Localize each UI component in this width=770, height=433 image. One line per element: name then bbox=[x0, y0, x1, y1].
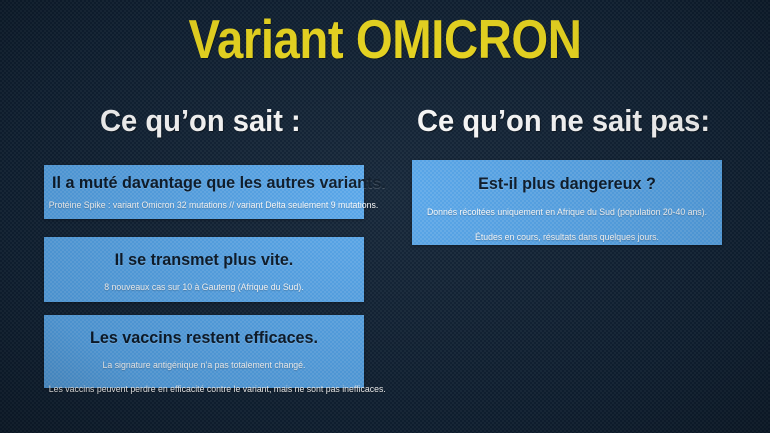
fact-card-mutations: Il a muté davantage que les autres varia… bbox=[44, 165, 364, 219]
column-heading-unknown: Ce qu’on ne sait pas: bbox=[417, 103, 710, 139]
fact-card-detail-line: Études en cours, résultats dans quelques… bbox=[417, 230, 718, 245]
column-heading-known: Ce qu’on sait : bbox=[100, 103, 301, 139]
fact-card-vaccines: Les vaccins restent efficaces. La signat… bbox=[44, 315, 364, 388]
fact-card-transmission: Il se transmet plus vite. 8 nouveaux cas… bbox=[44, 237, 364, 302]
fact-card-title: Est-il plus dangereux ? bbox=[420, 173, 715, 195]
page-title: Variant OMICRON bbox=[54, 8, 716, 70]
fact-card-detail-line: Les vaccins peuvent perdre en efficacité… bbox=[49, 382, 359, 397]
fact-card-danger: Est-il plus dangereux ? Donnés récoltées… bbox=[412, 160, 722, 245]
fact-card-title: Il a muté davantage que les autres varia… bbox=[52, 172, 356, 194]
fact-card-detail-line: Protéine Spike : variant Omicron 32 muta… bbox=[49, 198, 359, 213]
fact-card-title: Les vaccins restent efficaces. bbox=[52, 327, 356, 349]
fact-card-title: Il se transmet plus vite. bbox=[52, 249, 356, 271]
fact-card-detail-line: Donnés récoltées uniquement en Afrique d… bbox=[417, 205, 718, 220]
fact-card-detail-line: La signature antigénique n’a pas totalem… bbox=[49, 358, 359, 373]
slide-canvas: Variant OMICRON Ce qu’on sait : Ce qu’on… bbox=[0, 0, 770, 433]
fact-card-detail-line: 8 nouveaux cas sur 10 à Gauteng (Afrique… bbox=[49, 280, 359, 295]
